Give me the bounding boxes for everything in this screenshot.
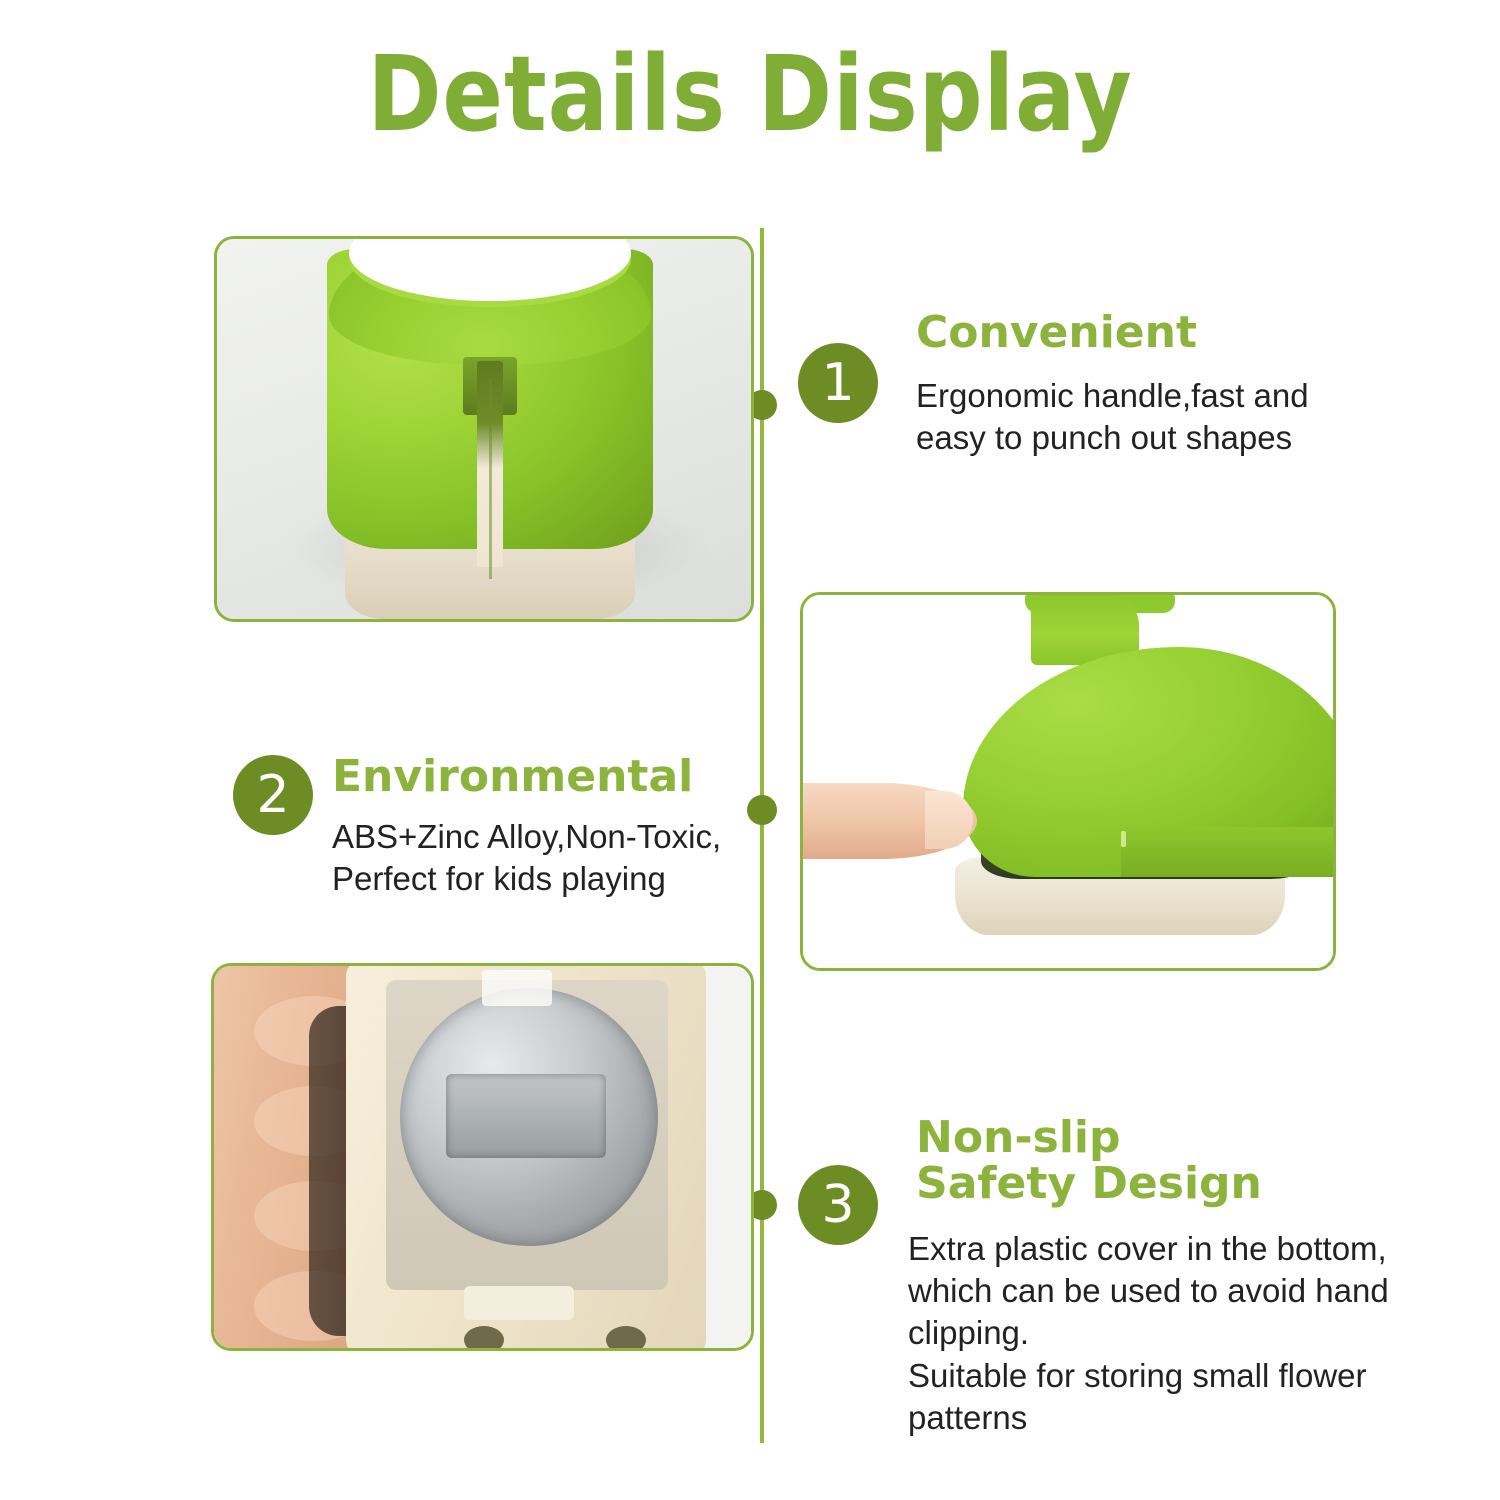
photo-punch-front-image: [217, 239, 751, 619]
photo-panel-punch-front: [214, 236, 754, 622]
section-heading-convenient: Convenient: [916, 310, 1197, 356]
page-title: Details Display: [105, 42, 1395, 146]
plastic-cover-clip-bottom: [464, 1286, 574, 1320]
section-heading-non-slip-safety-design: Non-slip Safety Design: [916, 1115, 1262, 1207]
punch-green-skirt: [1121, 827, 1333, 877]
plastic-cover-clip-top: [482, 970, 552, 1006]
base-hole: [606, 1326, 646, 1348]
punch-seam-line: [489, 379, 492, 579]
punch-alignment-tick: [1121, 831, 1126, 847]
section-heading-environmental: Environmental: [332, 754, 693, 800]
photo-punch-bottom-image: [214, 966, 751, 1348]
metal-die-plate: [446, 1074, 606, 1158]
section-body-non-slip-safety-design: Extra plastic cover in the bottom, which…: [908, 1228, 1408, 1439]
photo-panel-finger-press: [800, 592, 1336, 971]
section-body-convenient: Ergonomic handle,fast and easy to punch …: [916, 375, 1386, 459]
section-body-environmental: ABS+Zinc Alloy,Non-Toxic, Perfect for ki…: [332, 816, 762, 900]
photo-finger-press-image: [803, 595, 1333, 968]
base-hole: [464, 1326, 504, 1348]
section-number-badge-2: 2: [233, 755, 313, 835]
section-number-badge-1: 1: [798, 343, 878, 423]
section-number-badge-3: 3: [798, 1165, 878, 1245]
photo-panel-punch-bottom: [211, 963, 754, 1351]
infographic-canvas: Details Display: [0, 0, 1500, 1500]
